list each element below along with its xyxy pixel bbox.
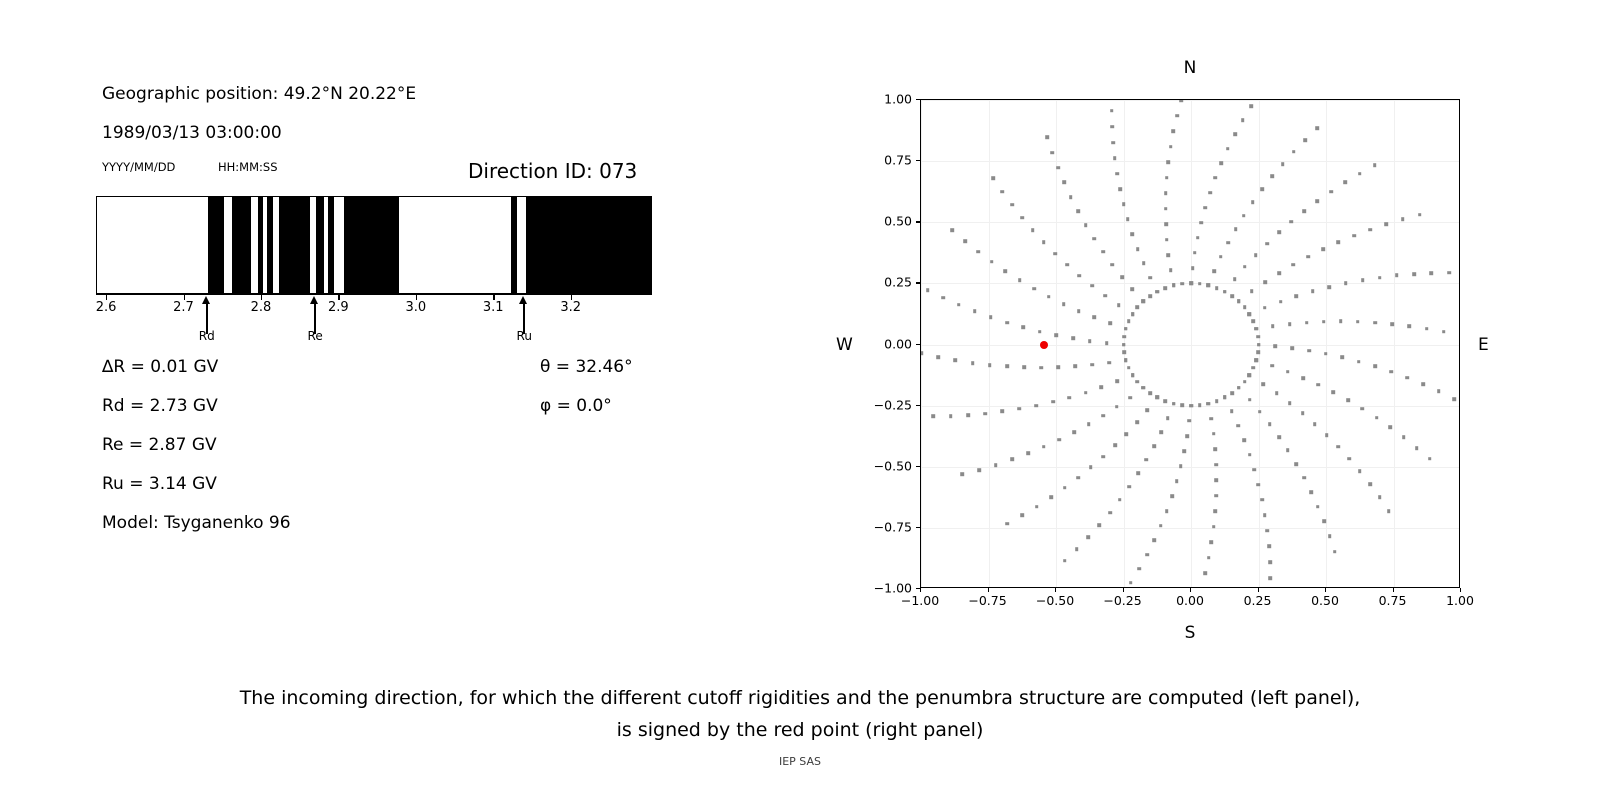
penumbra-forbidden-band bbox=[267, 197, 272, 293]
sky-direction-point bbox=[951, 228, 955, 232]
value-phi: φ = 0.0° bbox=[540, 396, 612, 416]
sky-direction-point bbox=[1055, 334, 1059, 338]
marker-label-re: Re bbox=[308, 329, 323, 343]
caption-line-1: The incoming direction, for which the di… bbox=[0, 682, 1600, 714]
sky-direction-point bbox=[1384, 222, 1388, 226]
sky-direction-point bbox=[1117, 303, 1121, 307]
value-rd: Rd = 2.73 GV bbox=[102, 396, 218, 416]
sky-gridline-horizontal bbox=[921, 161, 1459, 162]
compass-east-label: E bbox=[1478, 335, 1489, 355]
sky-xaxis-tick-label: −0.25 bbox=[1103, 593, 1141, 608]
sky-yaxis-tick bbox=[916, 344, 920, 345]
sky-direction-point bbox=[1063, 486, 1067, 490]
sky-direction-point bbox=[1277, 231, 1281, 235]
sky-direction-point bbox=[1294, 462, 1298, 466]
sky-direction-point bbox=[1242, 438, 1246, 442]
sky-xaxis-tick-label: 0.50 bbox=[1311, 593, 1339, 608]
sky-direction-point bbox=[1356, 320, 1360, 324]
sky-direction-point bbox=[1352, 234, 1356, 238]
sky-direction-point bbox=[1084, 391, 1088, 395]
sky-direction-point bbox=[1122, 343, 1126, 347]
sky-direction-point bbox=[1078, 274, 1082, 278]
penumbra-forbidden-band bbox=[258, 197, 263, 293]
sky-direction-point bbox=[1248, 312, 1252, 316]
sky-direction-point bbox=[1198, 282, 1202, 286]
sky-direction-point bbox=[1118, 187, 1122, 191]
sky-direction-point bbox=[1430, 271, 1434, 275]
sky-direction-point bbox=[963, 239, 967, 243]
sky-direction-point bbox=[1452, 397, 1456, 401]
sky-direction-point bbox=[1146, 408, 1150, 412]
sky-direction-point bbox=[941, 296, 945, 300]
sky-direction-point bbox=[1020, 514, 1024, 518]
sky-direction-point bbox=[954, 359, 958, 363]
sky-xaxis-tick bbox=[988, 588, 989, 592]
sky-gridline-horizontal bbox=[921, 467, 1459, 468]
sky-yaxis-tick-label: 0.00 bbox=[884, 336, 912, 351]
sky-direction-point bbox=[1327, 285, 1331, 289]
sky-direction-point bbox=[1115, 405, 1119, 409]
sky-gridline-vertical bbox=[1056, 100, 1057, 587]
sky-direction-point bbox=[1131, 288, 1135, 292]
sky-direction-point bbox=[1375, 416, 1379, 420]
penumbra-forbidden-band bbox=[344, 197, 399, 293]
sky-direction-point bbox=[1005, 365, 1009, 369]
sky-direction-point bbox=[1213, 269, 1217, 273]
sky-direction-point bbox=[1155, 396, 1159, 400]
sky-direction-point bbox=[1237, 424, 1241, 428]
sky-direction-point bbox=[1063, 559, 1067, 563]
sky-direction-point bbox=[1183, 450, 1187, 454]
sky-direction-point bbox=[1127, 366, 1131, 370]
sky-direction-point bbox=[1215, 478, 1219, 482]
sky-direction-point bbox=[1053, 252, 1057, 256]
sky-direction-point bbox=[1111, 263, 1115, 267]
compass-north-label: N bbox=[1184, 58, 1197, 78]
sky-direction-point bbox=[1198, 403, 1202, 407]
sky-direction-point bbox=[1425, 327, 1429, 331]
sky-direction-point bbox=[1141, 299, 1145, 303]
sky-direction-point bbox=[1193, 251, 1197, 255]
sky-direction-point bbox=[1101, 250, 1105, 254]
selected-direction-marker[interactable] bbox=[1040, 341, 1048, 349]
sky-direction-point bbox=[1165, 176, 1169, 180]
sky-direction-point bbox=[1412, 272, 1416, 276]
sky-direction-point bbox=[1122, 335, 1126, 339]
sky-direction-point bbox=[1169, 269, 1173, 273]
sky-direction-point bbox=[1101, 414, 1105, 418]
sky-direction-point bbox=[1032, 287, 1036, 291]
penumbra-axis-tick-label: 3.2 bbox=[560, 300, 581, 315]
sky-direction-point bbox=[961, 473, 965, 477]
sky-direction-point bbox=[1242, 214, 1246, 218]
sky-direction-point bbox=[1098, 523, 1102, 527]
sky-direction-point bbox=[1268, 422, 1272, 426]
penumbra-forbidden-band bbox=[279, 197, 310, 293]
sky-direction-point bbox=[1270, 175, 1274, 179]
sky-direction-point bbox=[1267, 545, 1271, 549]
sky-direction-point bbox=[1049, 496, 1053, 500]
penumbra-axis-line bbox=[96, 294, 652, 295]
sky-direction-point bbox=[1313, 422, 1317, 426]
sky-direction-point bbox=[926, 288, 930, 292]
sky-xaxis-tick-label: −0.50 bbox=[1036, 593, 1074, 608]
sky-direction-point bbox=[1302, 476, 1306, 480]
sky-direction-point bbox=[1346, 399, 1350, 403]
sky-direction-point bbox=[931, 415, 935, 419]
sky-direction-point bbox=[1035, 404, 1039, 408]
sky-xaxis-tick-label: 0.00 bbox=[1176, 593, 1204, 608]
sky-direction-point bbox=[1292, 150, 1296, 154]
sky-direction-point bbox=[1373, 321, 1377, 325]
sky-direction-point bbox=[1322, 320, 1326, 324]
sky-direction-point bbox=[1042, 240, 1046, 244]
sky-gridline-vertical bbox=[1191, 100, 1192, 587]
sky-direction-point bbox=[1295, 295, 1299, 299]
sky-direction-point bbox=[1243, 265, 1247, 269]
sky-direction-point bbox=[1056, 166, 1060, 170]
sky-direction-point bbox=[1286, 449, 1290, 453]
sky-direction-point bbox=[1087, 422, 1091, 426]
sky-direction-point bbox=[1172, 129, 1176, 133]
sky-direction-point bbox=[1358, 172, 1362, 176]
sky-direction-point bbox=[1233, 133, 1237, 137]
sky-direction-point bbox=[1065, 263, 1069, 267]
left-panel: Geographic position: 49.2°N 20.22°E 1989… bbox=[0, 0, 800, 660]
sky-direction-point bbox=[1288, 401, 1292, 405]
sky-yaxis-tick bbox=[916, 588, 920, 589]
sky-direction-point bbox=[1188, 419, 1192, 423]
sky-direction-point bbox=[1118, 498, 1122, 502]
sky-direction-point bbox=[1230, 391, 1234, 395]
sky-direction-point bbox=[1207, 556, 1211, 560]
penumbra-forbidden-band bbox=[316, 197, 324, 293]
sky-direction-point bbox=[1110, 125, 1114, 129]
value-delta-r: ∆R = 0.01 GV bbox=[102, 357, 218, 377]
sky-direction-point bbox=[1179, 465, 1183, 469]
sky-gridline-vertical bbox=[989, 100, 990, 587]
sky-direction-point bbox=[1131, 373, 1135, 377]
sky-direction-point bbox=[1163, 286, 1167, 290]
sky-direction-point bbox=[1210, 541, 1214, 545]
sky-yaxis-tick bbox=[916, 160, 920, 161]
sky-direction-point bbox=[1214, 463, 1218, 467]
marker-label-rd: Rd bbox=[199, 329, 215, 343]
sky-gridline-vertical bbox=[1326, 100, 1327, 587]
sky-direction-point bbox=[1252, 319, 1256, 323]
sky-direction-point bbox=[1207, 402, 1211, 406]
sky-yaxis-tick-label: −0.50 bbox=[874, 458, 912, 473]
sky-direction-point bbox=[1289, 220, 1293, 224]
sky-direction-point bbox=[1237, 386, 1241, 390]
sky-direction-point bbox=[1108, 322, 1112, 326]
sky-direction-point bbox=[1069, 195, 1073, 199]
sky-direction-point bbox=[1107, 361, 1111, 365]
sky-direction-point bbox=[1309, 490, 1313, 494]
sky-direction-point bbox=[1265, 242, 1269, 246]
sky-direction-point bbox=[994, 463, 998, 467]
sky-direction-point bbox=[1288, 322, 1292, 326]
caption-line-2: is signed by the red point (right panel) bbox=[0, 714, 1600, 746]
sky-direction-point bbox=[971, 361, 975, 365]
sky-direction-point bbox=[1303, 138, 1307, 142]
sky-direction-point bbox=[1042, 445, 1046, 449]
sky-direction-point bbox=[1111, 141, 1115, 145]
sky-xaxis-tick-label: 0.75 bbox=[1379, 593, 1407, 608]
sky-direction-point bbox=[1148, 294, 1152, 298]
sky-direction-point bbox=[1219, 255, 1223, 259]
sky-direction-point bbox=[1344, 282, 1348, 286]
sky-direction-point bbox=[1274, 344, 1278, 348]
sky-direction-point bbox=[1005, 522, 1009, 526]
sky-direction-point bbox=[1248, 373, 1252, 377]
sky-direction-point bbox=[1226, 241, 1230, 245]
sky-xaxis-tick bbox=[1460, 588, 1461, 592]
sky-direction-point bbox=[1026, 452, 1030, 456]
sky-direction-point bbox=[1325, 433, 1329, 437]
sky-direction-point bbox=[1031, 228, 1035, 232]
sky-direction-point bbox=[1373, 365, 1377, 369]
sky-direction-point bbox=[1214, 494, 1218, 498]
sky-direction-point bbox=[1127, 319, 1131, 323]
sky-direction-point bbox=[1199, 221, 1203, 225]
sky-direction-point bbox=[1175, 114, 1179, 118]
sky-direction-point bbox=[1248, 398, 1252, 402]
sky-direction-point bbox=[1001, 410, 1005, 414]
sky-direction-point bbox=[1135, 420, 1139, 424]
sky-direction-point bbox=[1131, 233, 1135, 237]
sky-direction-point bbox=[1113, 156, 1117, 160]
sky-direction-point bbox=[1141, 386, 1145, 390]
sky-xaxis-tick bbox=[1123, 588, 1124, 592]
sky-direction-point bbox=[1170, 495, 1174, 499]
sky-direction-point bbox=[1062, 181, 1066, 185]
sky-direction-point bbox=[1166, 416, 1170, 420]
sky-direction-point bbox=[1108, 511, 1112, 515]
sky-direction-point bbox=[1324, 352, 1328, 356]
sky-direction-point bbox=[1260, 187, 1264, 191]
sky-direction-point bbox=[1004, 269, 1008, 273]
sky-direction-point bbox=[1038, 330, 1042, 334]
sky-direction-point bbox=[1368, 482, 1372, 486]
sky-direction-point bbox=[1442, 330, 1446, 334]
sky-yaxis-tick-label: 0.25 bbox=[884, 275, 912, 290]
sky-direction-point bbox=[1251, 200, 1255, 204]
penumbra-forbidden-band bbox=[232, 197, 251, 293]
sky-direction-point bbox=[1022, 326, 1026, 330]
marker-label-ru: Ru bbox=[517, 329, 532, 343]
sky-direction-point bbox=[1271, 324, 1275, 328]
sky-direction-point bbox=[1046, 136, 1050, 140]
sky-direction-point bbox=[1001, 190, 1005, 194]
sky-gridline-horizontal bbox=[921, 100, 1459, 101]
sky-direction-point bbox=[1122, 203, 1126, 207]
sky-direction-point bbox=[1343, 181, 1347, 185]
sky-direction-point bbox=[1051, 151, 1055, 155]
sky-direction-point bbox=[1336, 445, 1340, 449]
sky-xaxis-tick bbox=[1393, 588, 1394, 592]
sky-direction-point bbox=[1275, 391, 1279, 395]
sky-yaxis-tick bbox=[916, 527, 920, 528]
sky-direction-point bbox=[1089, 466, 1093, 470]
sky-direction-point bbox=[1115, 380, 1119, 384]
sky-direction-point bbox=[988, 363, 992, 367]
sky-direction-point bbox=[991, 176, 995, 180]
sky-yaxis-tick-label: 1.00 bbox=[884, 92, 912, 107]
sky-direction-point bbox=[1243, 305, 1247, 309]
sky-gridline-vertical bbox=[921, 100, 922, 587]
sky-direction-point bbox=[1337, 240, 1341, 244]
sky-direction-point bbox=[1358, 470, 1362, 474]
sky-direction-point bbox=[1373, 164, 1377, 168]
sky-direction-point bbox=[1115, 172, 1119, 176]
sky-direction-point bbox=[1277, 271, 1281, 275]
sky-direction-point bbox=[1129, 581, 1133, 585]
sky-direction-point bbox=[1241, 118, 1245, 122]
sky-direction-point bbox=[1263, 306, 1267, 310]
sky-xaxis-tick bbox=[1325, 588, 1326, 592]
sky-direction-point bbox=[1258, 410, 1262, 414]
sky-direction-point bbox=[1136, 380, 1140, 384]
sky-direction-point bbox=[1390, 322, 1394, 326]
sky-direction-point bbox=[1148, 276, 1152, 280]
sky-direction-point bbox=[1347, 457, 1351, 461]
penumbra-axis-tick-label: 3.0 bbox=[405, 300, 426, 315]
sky-direction-point bbox=[976, 250, 980, 254]
sky-direction-point bbox=[1005, 321, 1009, 325]
sky-direction-point bbox=[1076, 209, 1080, 213]
penumbra-axis-tick-label: 2.7 bbox=[173, 300, 194, 315]
sky-direction-point bbox=[1428, 457, 1432, 461]
sky-direction-point bbox=[1103, 294, 1107, 298]
sky-direction-point bbox=[1071, 337, 1075, 341]
sky-direction-point bbox=[1212, 432, 1216, 436]
sky-direction-point bbox=[1142, 262, 1146, 266]
sky-direction-point bbox=[1199, 587, 1203, 588]
sky-direction-point bbox=[1165, 509, 1169, 513]
sky-direction-point bbox=[1120, 275, 1124, 279]
sky-direction-point bbox=[1263, 280, 1267, 284]
value-re: Re = 2.87 GV bbox=[102, 435, 217, 455]
sky-direction-point bbox=[1306, 255, 1310, 259]
sky-direction-point bbox=[1010, 458, 1014, 462]
sky-direction-point bbox=[989, 315, 993, 319]
sky-direction-point bbox=[1018, 407, 1022, 411]
sky-direction-point bbox=[977, 468, 981, 472]
sky-direction-point bbox=[1230, 410, 1234, 414]
sky-direction-point bbox=[1265, 529, 1269, 533]
sky-direction-point bbox=[1215, 399, 1219, 403]
sky-direction-point bbox=[1179, 99, 1183, 102]
sky-direction-point bbox=[1402, 436, 1406, 440]
value-ru: Ru = 3.14 GV bbox=[102, 474, 217, 494]
sky-yaxis-tick-label: 0.75 bbox=[884, 153, 912, 168]
value-theta: θ = 32.46° bbox=[540, 357, 633, 377]
sky-direction-point bbox=[1357, 360, 1361, 364]
sky-direction-point bbox=[1113, 444, 1117, 448]
sky-direction-point bbox=[949, 414, 953, 418]
sky-direction-point bbox=[1136, 247, 1140, 251]
penumbra-bar bbox=[96, 196, 652, 294]
sky-map-plot-area bbox=[920, 99, 1460, 588]
sky-direction-point bbox=[1128, 396, 1132, 400]
penumbra-bar-chart bbox=[96, 196, 652, 294]
sky-gridline-horizontal bbox=[921, 528, 1459, 529]
sky-direction-point bbox=[1378, 496, 1382, 500]
penumbra-forbidden-band bbox=[208, 197, 224, 293]
sky-direction-point bbox=[1100, 386, 1104, 390]
value-model: Model: Tsyganenko 96 bbox=[102, 513, 291, 533]
sky-direction-point bbox=[1268, 560, 1272, 564]
sky-direction-point bbox=[1305, 321, 1309, 325]
sky-direction-point bbox=[1279, 300, 1283, 304]
sky-direction-point bbox=[1126, 218, 1130, 222]
sky-direction-point bbox=[1068, 396, 1072, 400]
sky-direction-point bbox=[1248, 453, 1252, 457]
sky-direction-point bbox=[1378, 276, 1382, 280]
sky-direction-point bbox=[1249, 104, 1253, 108]
sky-direction-point bbox=[1088, 339, 1092, 343]
sky-direction-point bbox=[1401, 217, 1405, 221]
sky-direction-point bbox=[1292, 263, 1296, 267]
penumbra-forbidden-band bbox=[526, 197, 652, 293]
sky-direction-point bbox=[1145, 553, 1149, 557]
sky-direction-point bbox=[936, 355, 940, 359]
geographic-position-label: Geographic position: 49.2°N 20.22°E bbox=[102, 84, 416, 104]
sky-direction-point bbox=[1311, 290, 1315, 294]
sky-direction-point bbox=[1252, 468, 1256, 472]
sky-direction-point bbox=[1277, 435, 1281, 439]
sky-direction-point bbox=[1243, 380, 1247, 384]
sky-direction-point bbox=[1317, 383, 1321, 387]
sky-direction-point bbox=[1124, 327, 1128, 331]
sky-direction-point bbox=[1290, 346, 1294, 350]
sky-direction-point bbox=[1180, 403, 1184, 407]
sky-direction-point bbox=[1090, 284, 1094, 288]
sky-direction-point bbox=[1250, 290, 1254, 294]
sky-direction-point bbox=[1219, 161, 1223, 165]
sky-direction-point bbox=[1254, 359, 1258, 363]
sky-direction-point bbox=[1152, 444, 1156, 448]
sky-direction-point bbox=[1163, 399, 1167, 403]
sky-direction-point bbox=[1185, 434, 1189, 438]
sky-direction-point bbox=[1020, 216, 1024, 220]
sky-direction-point bbox=[1212, 525, 1216, 529]
sky-direction-point bbox=[1213, 176, 1217, 180]
sky-direction-point bbox=[1074, 365, 1078, 369]
sky-direction-point bbox=[1263, 513, 1267, 517]
sky-gridline-horizontal bbox=[921, 222, 1459, 223]
sky-direction-point bbox=[1159, 430, 1163, 434]
sky-direction-point bbox=[1395, 274, 1399, 278]
compass-west-label: W bbox=[836, 335, 853, 355]
sky-direction-point bbox=[1261, 382, 1265, 386]
sky-yaxis-tick-label: −0.25 bbox=[874, 397, 912, 412]
sky-direction-point bbox=[1131, 312, 1135, 316]
sky-direction-point bbox=[1062, 302, 1066, 306]
sky-direction-point bbox=[1105, 341, 1109, 345]
sky-direction-point bbox=[1316, 505, 1320, 509]
sky-yaxis-tick bbox=[916, 466, 920, 467]
sky-direction-point bbox=[1124, 359, 1128, 363]
sky-direction-point bbox=[1191, 266, 1195, 270]
datetime-label: 1989/03/13 03:00:00 bbox=[102, 123, 282, 143]
sky-direction-point bbox=[1329, 190, 1333, 194]
direction-id-label: Direction ID: 073 bbox=[468, 159, 637, 183]
sky-xaxis-tick bbox=[1055, 588, 1056, 592]
sky-xaxis-tick bbox=[1258, 588, 1259, 592]
sky-direction-point bbox=[973, 309, 977, 313]
